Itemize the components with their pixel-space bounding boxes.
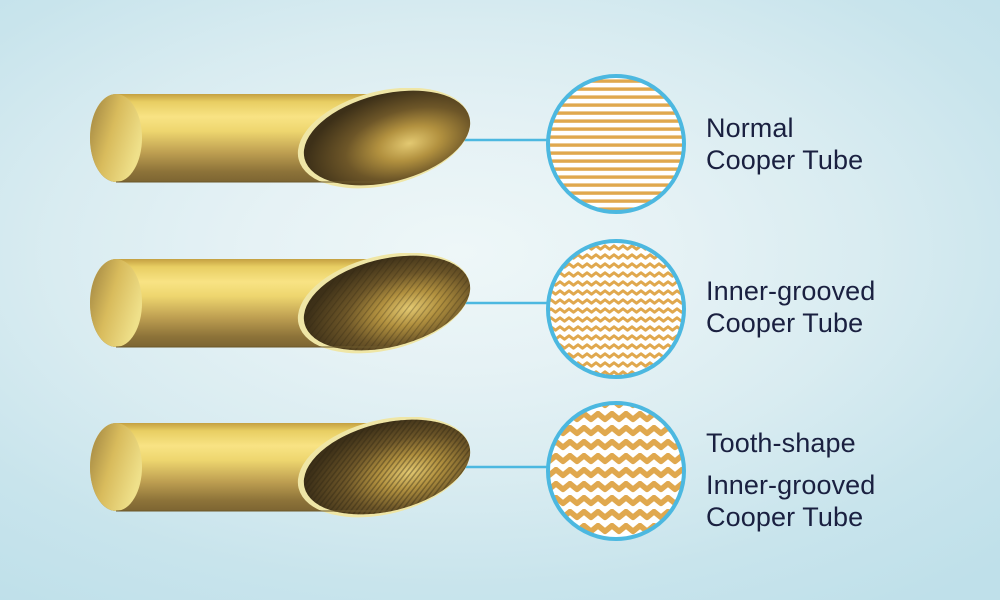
label-tooth-shape-inner-grooved: Tooth-shape Inner-grooved Cooper Tube [706, 428, 875, 534]
cross-section-normal [542, 70, 690, 218]
label-line: Normal [706, 113, 863, 145]
pattern-fine-zigzag [542, 235, 690, 383]
label-normal: Normal Cooper Tube [706, 113, 863, 177]
diagram-canvas: Normal Cooper Tube [0, 0, 1000, 600]
pattern-coarse-zigzag [542, 397, 690, 545]
pattern-horizontal-stripes [542, 70, 690, 218]
label-line: Cooper Tube [706, 502, 875, 534]
label-line: Inner-grooved [706, 470, 875, 502]
tube-normal [88, 88, 473, 192]
label-line: Inner-grooved [706, 276, 875, 308]
cross-section-inner-grooved [542, 235, 690, 383]
cross-section-tooth-shape-inner-grooved [542, 397, 690, 545]
label-line: Tooth-shape [706, 428, 875, 460]
tube-inner-grooved [88, 253, 473, 357]
label-line: Cooper Tube [706, 308, 875, 340]
label-line: Cooper Tube [706, 145, 863, 177]
tube-tooth-shape-inner-grooved [88, 417, 473, 521]
label-inner-grooved: Inner-grooved Cooper Tube [706, 276, 875, 340]
